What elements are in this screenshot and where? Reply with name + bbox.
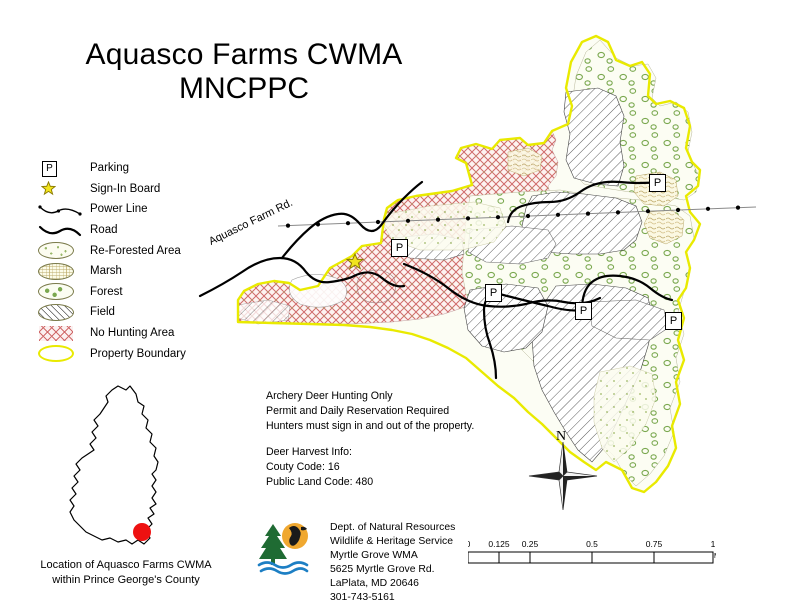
no-hunting-swatch [38,325,82,342]
pine-tree-shape [259,524,287,559]
legend-item-no-hunting-area: No Hunting Area [38,323,238,344]
map-page: P P P P P Aquasco Farm Rd. Aquasco Farms… [0,0,792,612]
star-icon [38,180,82,197]
agency-address: Dept. of Natural Resources Wildlife & He… [330,518,455,605]
map-parking-marker[interactable]: P [391,239,408,257]
county-outline [70,386,158,544]
agency-line-2: Wildlife & Heritage Service [330,535,455,549]
agency-line-3: Myrtle Grove WMA [330,549,455,563]
legend-label-forest: Forest [90,286,123,298]
hunting-notes-block: Archery Deer Hunting Only Permit and Dai… [266,389,474,490]
legend-item-forest: Forest [38,282,238,303]
power-line [278,206,756,228]
road-mid-connector [492,292,582,311]
marsh-area-b [644,210,684,244]
legend-item-road: Road [38,220,238,241]
road-east-connector [582,276,672,310]
clearing-outline-a [289,274,346,307]
forest-area-north [570,40,700,200]
map-parking-marker[interactable]: P [575,302,592,320]
note-public-land-code: Public Land Code: 480 [266,475,474,490]
water-waves [259,563,307,574]
location-marker [133,523,151,541]
legend-item-parking: P Parking [38,158,238,179]
road-icon [38,222,82,239]
legend-label-marsh: Marsh [90,265,122,277]
agency-line-4: 5625 Myrtle Grove Rd. [330,563,455,577]
note-sign-in-out: Hunters must sign in and out of the prop… [266,419,474,434]
field-swatch [38,304,82,321]
field-area-small-c [238,300,290,324]
marsh-swatch [38,263,82,280]
scale-tick-0125: 0.125 [488,539,510,549]
scale-bar-segments [468,552,713,563]
agency-line-6: 301-743-5161 [330,591,455,605]
dnr-logo-icon [256,518,318,578]
scale-tick-05: 0.5 [586,539,598,549]
property-boundary-swatch [38,345,82,362]
title-line-1: Aquasco Farms CWMA [44,38,444,72]
field-area-central [522,192,642,254]
marsh-area-c [508,148,542,176]
clearing-outline-b [357,270,396,303]
title-line-2: MNCPPC [44,72,444,106]
legend-item-power-line: Power Line [38,199,238,220]
field-area-inner-west [468,226,556,264]
map-parking-marker[interactable]: P [485,284,502,302]
parking-icon-letter: P [42,161,57,177]
field-area-small-b [588,300,668,340]
road-to-parking-north [508,182,660,222]
legend-item-sign-in-board: Sign-In Board [38,179,238,200]
compass-rose: N [526,424,600,512]
no-hunting-area [238,131,558,324]
inset-caption: Location of Aquasco Farms CWMA within Pr… [16,558,236,587]
re-forested-swatch [38,242,82,259]
field-area-north [564,88,624,186]
scale-tick-0: 0 [468,539,471,549]
legend-label-no-hunting-area: No Hunting Area [90,327,174,339]
notes-spacer [266,434,474,445]
scale-tick-075: 0.75 [646,539,663,549]
county-inset-map [60,382,190,557]
page-title: Aquasco Farms CWMA MNCPPC [44,38,444,105]
agency-line-5: LaPlata, MD 20646 [330,577,455,591]
inset-caption-line-1: Location of Aquasco Farms CWMA [16,558,236,573]
scale-bar: 0 0.125 0.25 0.5 0.75 1 Miles [468,538,716,572]
legend-item-property-boundary: Property Boundary [38,343,238,364]
scale-units-label: Miles [714,553,716,560]
forest-swatch [38,283,82,300]
legend-label-property-boundary: Property Boundary [90,348,186,360]
legend-label-parking: Parking [90,162,129,174]
legend-label-field: Field [90,306,115,318]
road-east-loop [404,264,600,307]
legend-label-road: Road [90,224,118,236]
scale-tick-1: 1 [711,539,716,549]
agency-block: Dept. of Natural Resources Wildlife & He… [256,518,455,605]
scale-tick-labels: 0 0.125 0.25 0.5 0.75 1 [468,539,716,549]
parking-icon: P [38,160,82,177]
map-parking-marker[interactable]: P [649,174,666,192]
note-county-code: Couty Code: 16 [266,460,474,475]
sign-in-board-marker [347,254,363,269]
compass-star-shape [529,442,597,510]
legend-label-power-line: Power Line [90,203,148,215]
legend-item-field: Field [38,302,238,323]
agency-line-1: Dept. of Natural Resources [330,521,455,535]
note-deer-harvest-info: Deer Harvest Info: [266,445,474,460]
map-parking-marker[interactable]: P [665,312,682,330]
map-legend: P Parking Sign-In Board Power Line [38,158,238,364]
legend-item-marsh: Marsh [38,261,238,282]
power-line-icon [38,201,82,218]
legend-label-sign-in-board: Sign-In Board [90,183,160,195]
re-forested-area-b [594,366,656,462]
inset-caption-line-2: within Prince George's County [16,573,236,588]
legend-item-re-forested-area: Re-Forested Area [38,240,238,261]
legend-label-re-forested-area: Re-Forested Area [90,245,181,257]
scale-tick-025: 0.25 [522,539,539,549]
road-south-connector [484,292,496,378]
field-area-mid-left [464,284,548,352]
note-permit-required: Permit and Daily Reservation Required [266,404,474,419]
note-archery-only: Archery Deer Hunting Only [266,389,474,404]
compass-north-label: N [556,429,566,444]
